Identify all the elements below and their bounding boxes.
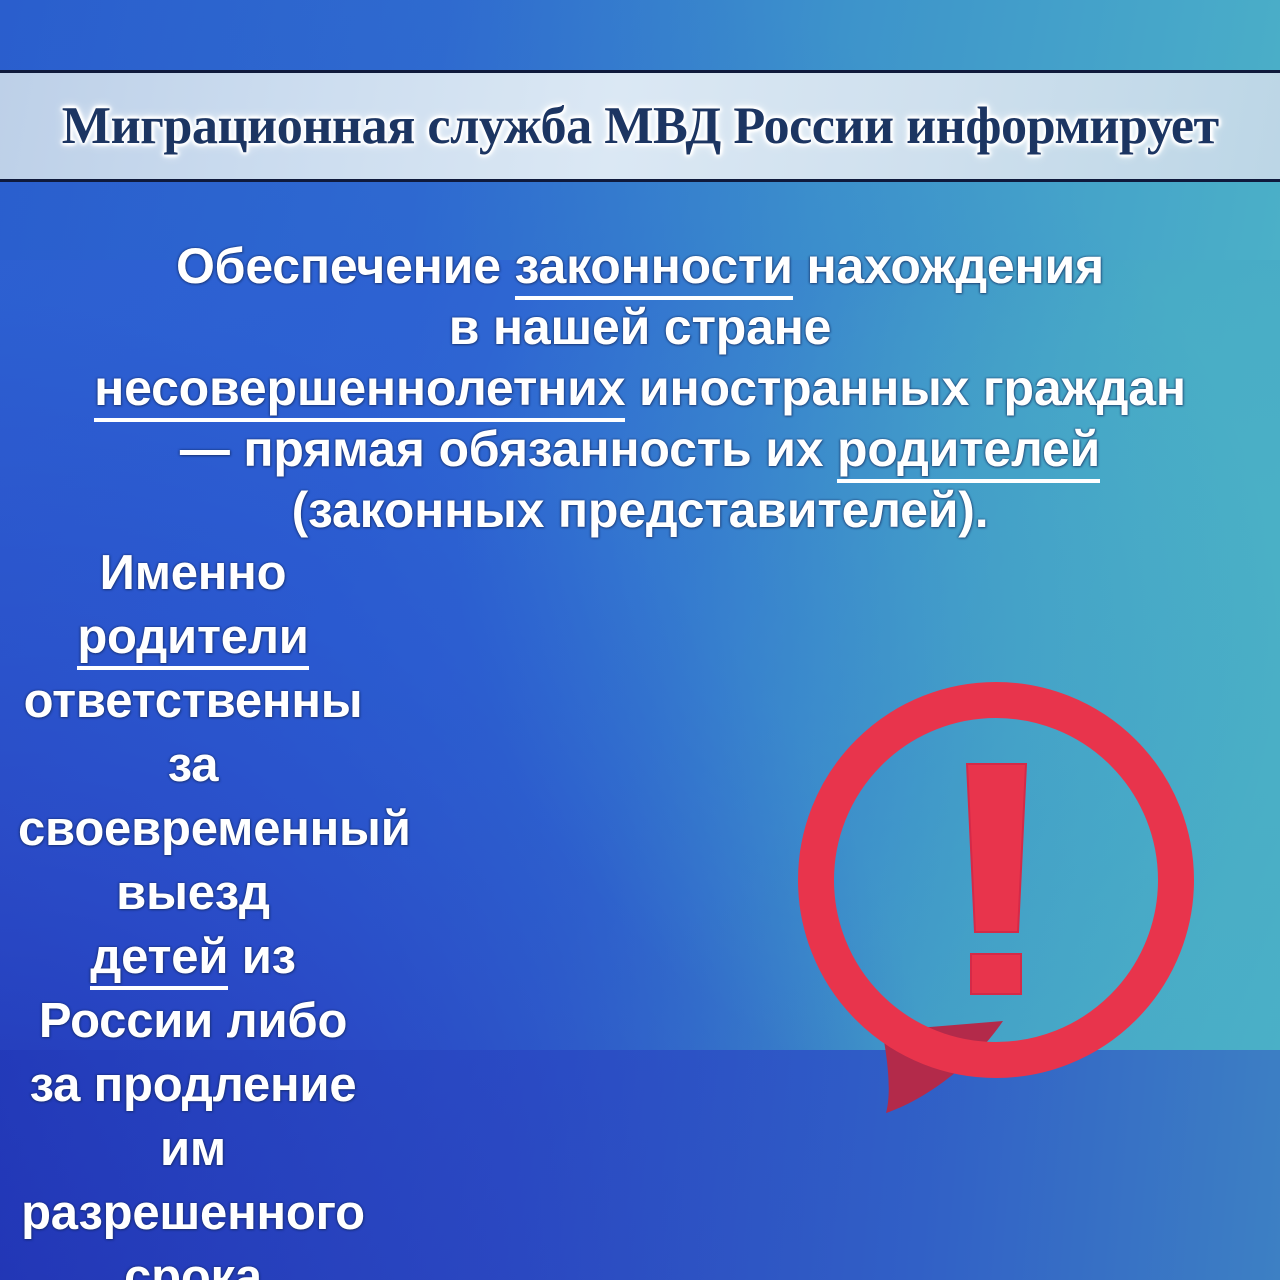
emphasized-term: родителей bbox=[837, 421, 1100, 483]
copy-run: за продление bbox=[30, 1058, 357, 1112]
header-band: Миграционная служба МВД России информиру… bbox=[0, 70, 1280, 182]
exclamation-speech-bubble-icon bbox=[798, 664, 1194, 1114]
poster-root: Миграционная служба МВД России информиру… bbox=[0, 0, 1280, 1280]
paragraph-parent-responsibility: Именно родителиответственныза своевремен… bbox=[18, 541, 808, 1280]
copy-run: за своевременный выезд bbox=[18, 738, 411, 920]
emphasized-term: несовершеннолетних bbox=[94, 360, 625, 422]
copy-line: в нашей стране bbox=[18, 297, 1262, 358]
emphasized-term: срока bbox=[124, 1250, 262, 1280]
copy-run: Именно bbox=[100, 546, 287, 600]
copy-line: (законных представителей). bbox=[18, 480, 1262, 541]
copy-line: Обеспечение законности нахождения bbox=[18, 236, 1262, 297]
copy-line: за продление bbox=[18, 1053, 368, 1117]
copy-run: (законных представителей). bbox=[292, 482, 989, 538]
copy-line: Именно родители bbox=[18, 541, 368, 669]
emphasized-term: законности bbox=[515, 238, 793, 300]
emphasized-term: детей bbox=[90, 930, 228, 990]
copy-line: несовершеннолетних иностранных граждан bbox=[18, 358, 1262, 419]
copy-run: иностранных граждан bbox=[625, 360, 1186, 416]
copy-line: им разрешенного срока bbox=[18, 1117, 368, 1280]
copy-run: Обеспечение bbox=[176, 238, 515, 294]
copy-line: за своевременный выезд bbox=[18, 733, 368, 925]
copy-line: детей из России либо bbox=[18, 925, 368, 1053]
copy-run: им разрешенного bbox=[21, 1122, 365, 1240]
emphasized-term: родители bbox=[77, 610, 308, 670]
page-title: Миграционная служба МВД России информиру… bbox=[62, 100, 1219, 153]
copy-run: нахождения bbox=[793, 238, 1104, 294]
copy-run: — прямая обязанность их bbox=[180, 421, 837, 477]
paragraph-legality-duty: Обеспечение законности нахожденияв нашей… bbox=[18, 236, 1262, 541]
copy-run: в нашей стране bbox=[449, 299, 832, 355]
copy-run: ответственны bbox=[24, 674, 363, 728]
copy-line: ответственны bbox=[18, 669, 368, 733]
copy-line: — прямая обязанность их родителей bbox=[18, 419, 1262, 480]
